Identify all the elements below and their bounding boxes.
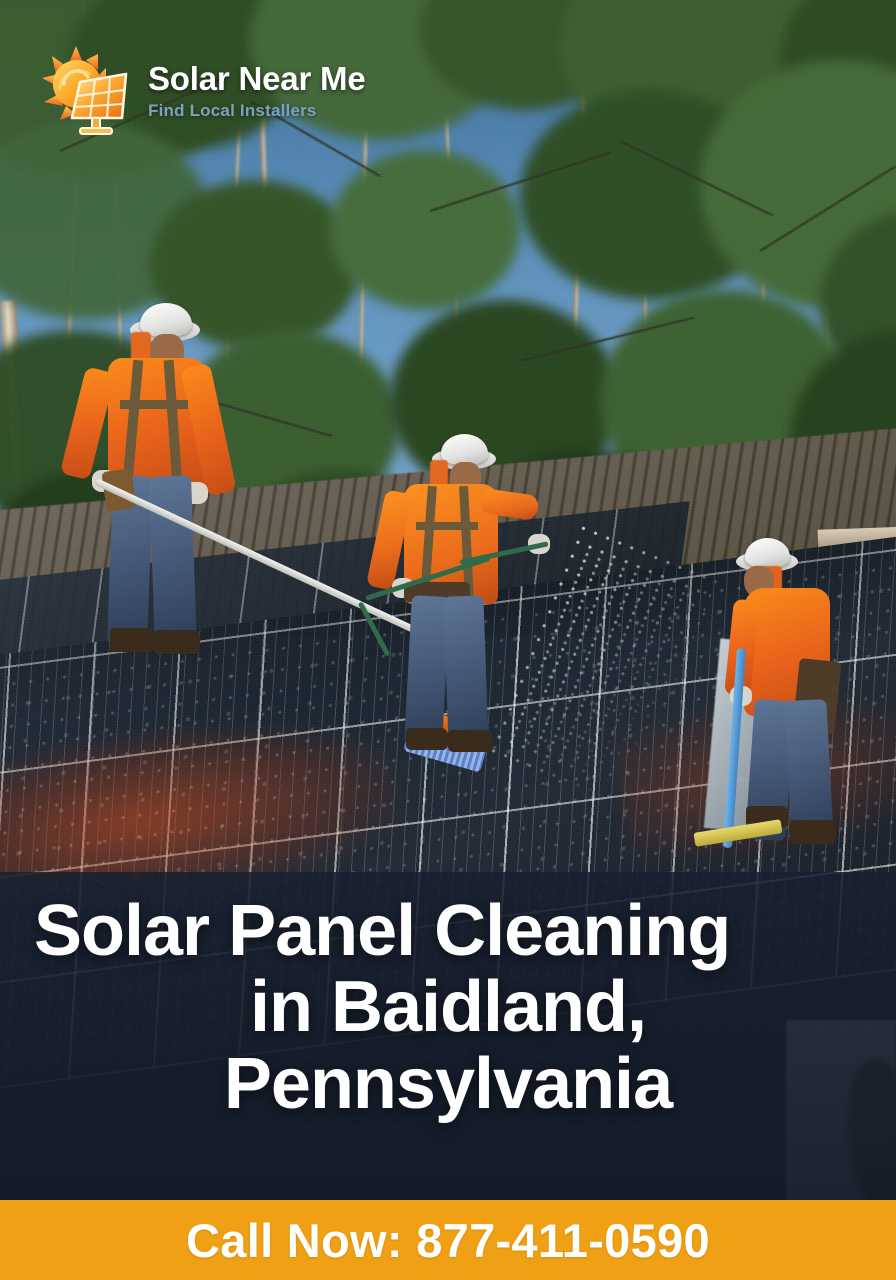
sun-solar-panel-icon: [40, 44, 136, 136]
headline-line-1: Solar Panel Cleaning: [18, 893, 878, 969]
brand-tagline: Find Local Installers: [148, 102, 366, 119]
solar-cleaning-promo-poster: Solar Near Me Find Local Installers Sola…: [0, 0, 896, 1280]
call-now-text[interactable]: Call Now: 877-411-0590: [186, 1213, 710, 1268]
brand-text: Solar Near Me Find Local Installers: [148, 62, 366, 119]
call-now-bar[interactable]: Call Now: 877-411-0590: [0, 1200, 896, 1280]
brand-logo[interactable]: Solar Near Me Find Local Installers: [40, 44, 366, 136]
brand-name: Solar Near Me: [148, 62, 366, 95]
page-title: Solar Panel Cleaning in Baidland, Pennsy…: [0, 893, 896, 1122]
headline-line-3: Pennsylvania: [18, 1046, 878, 1122]
headline-line-2: in Baidland,: [18, 969, 878, 1045]
